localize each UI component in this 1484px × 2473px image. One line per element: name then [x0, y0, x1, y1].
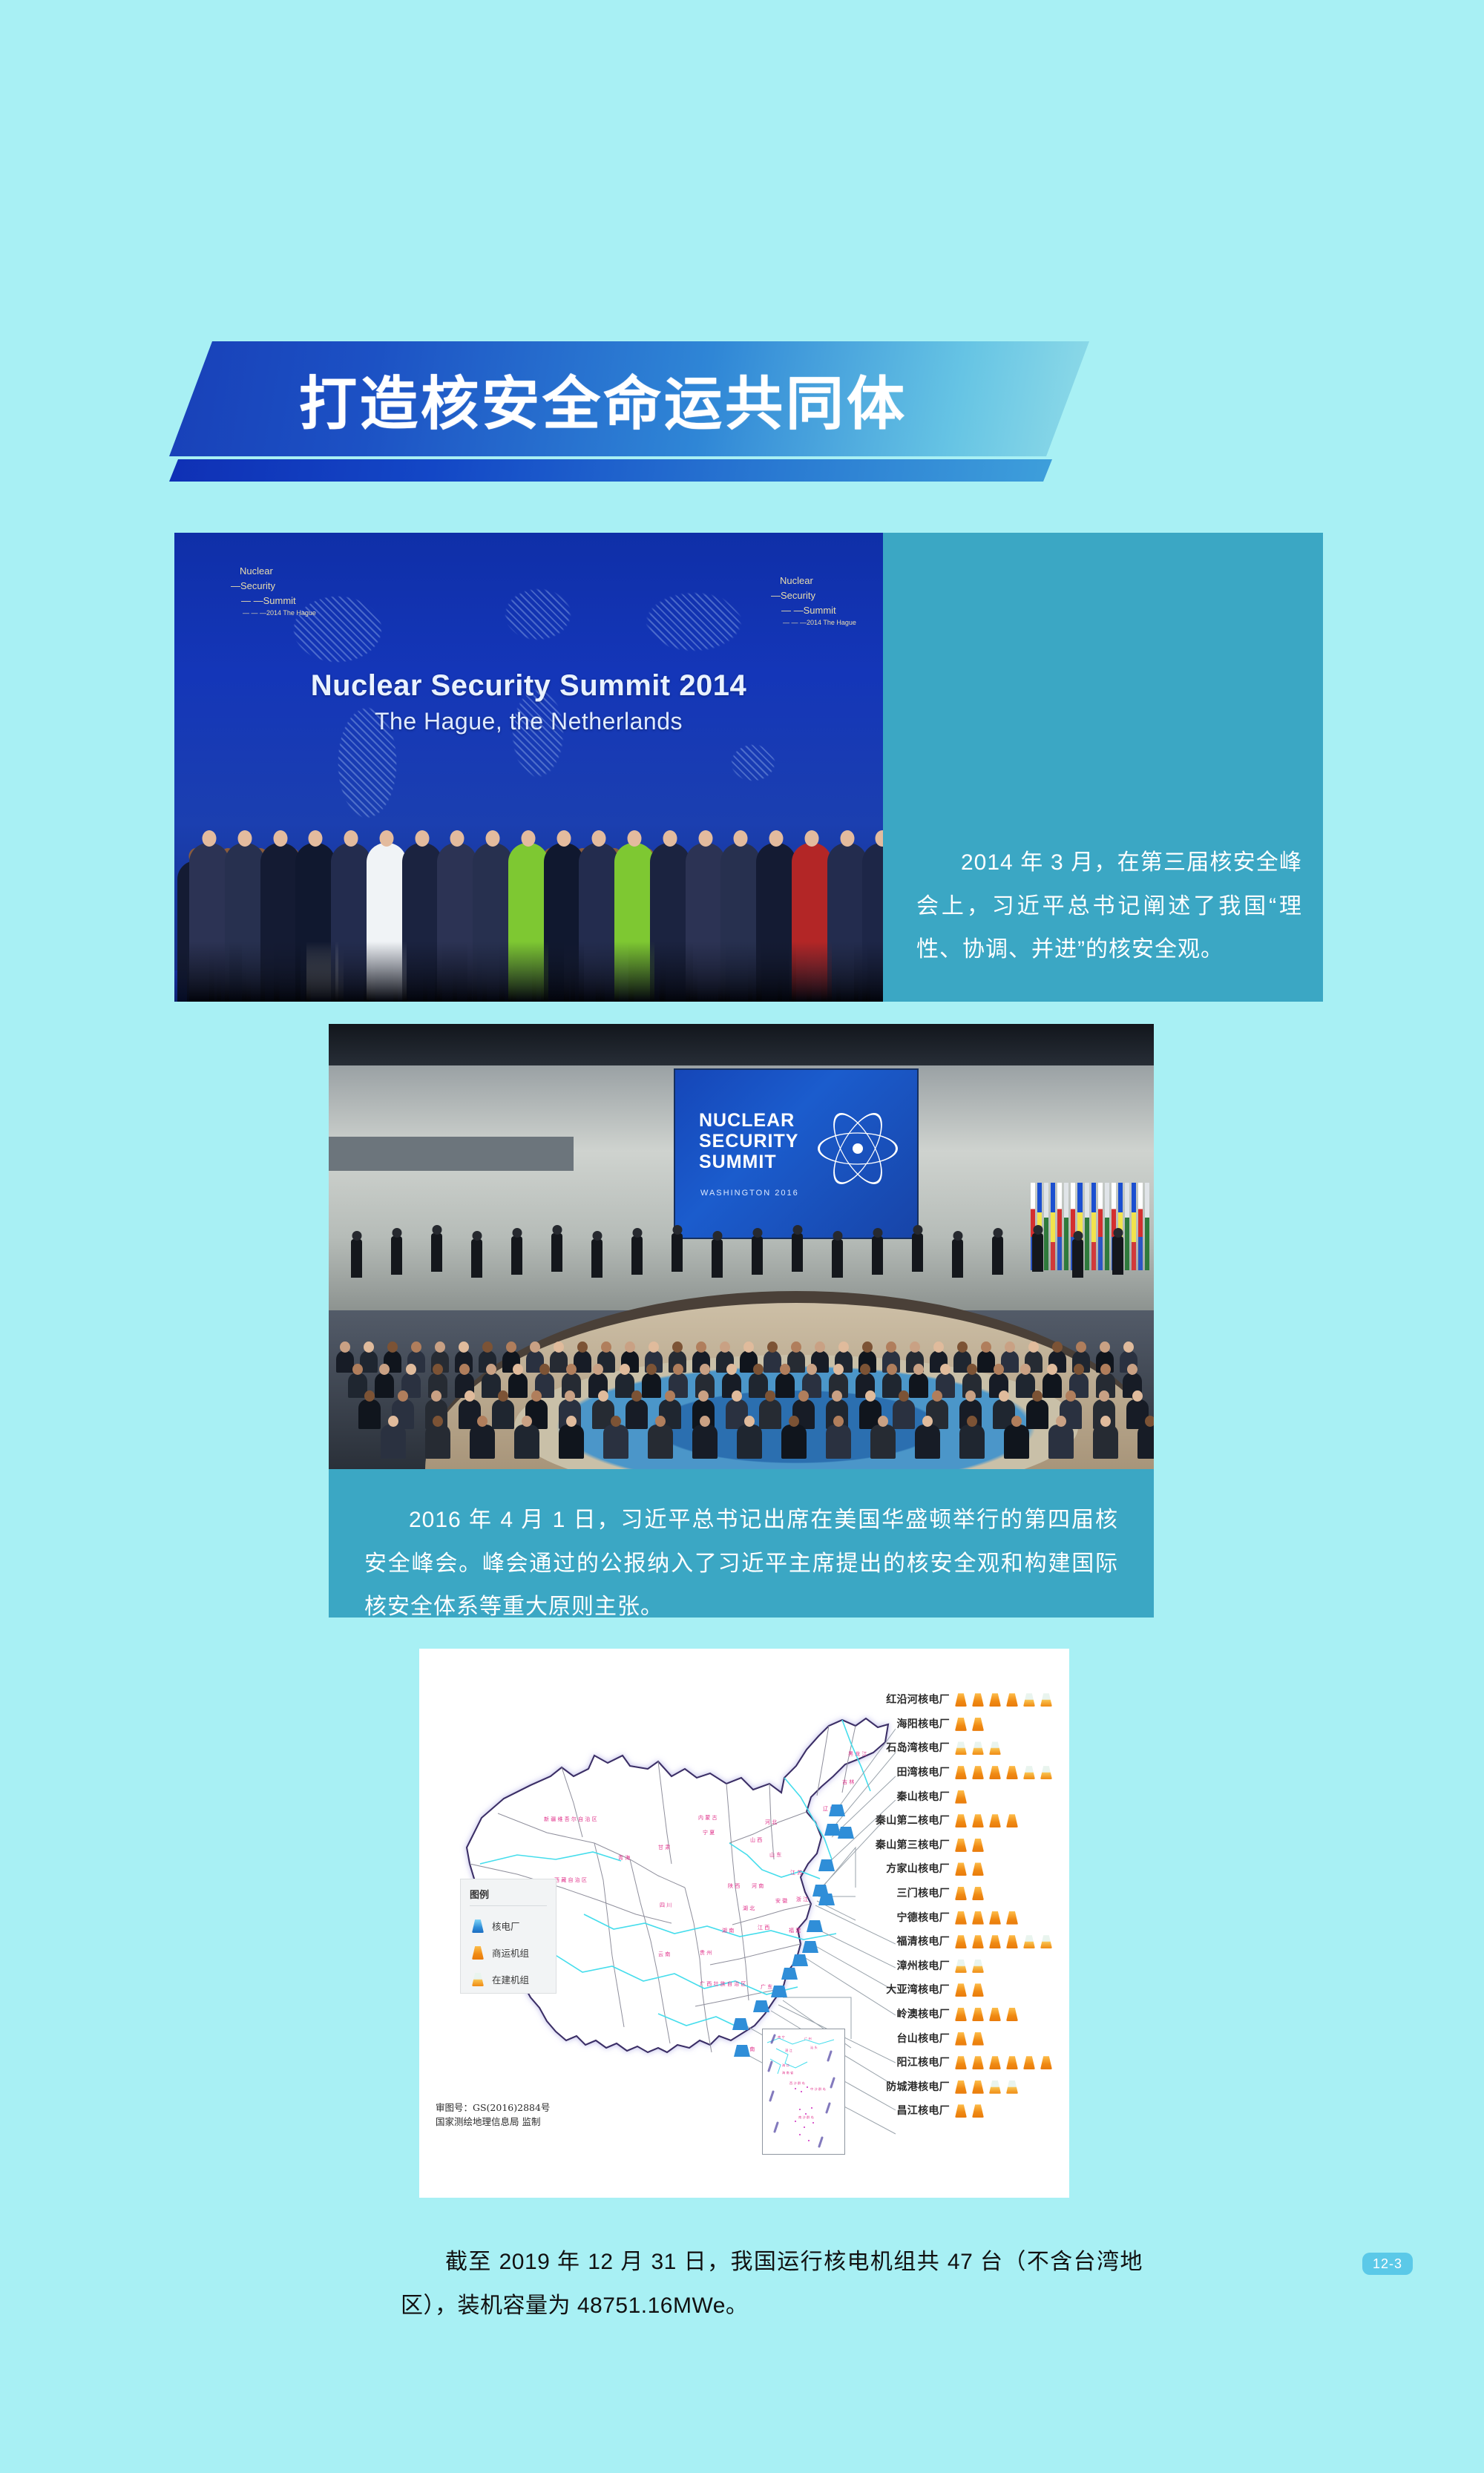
seated-delegate: [470, 1425, 495, 1459]
operating-unit-icon: [970, 1981, 986, 1997]
svg-text:陕 西: 陕 西: [728, 1882, 740, 1889]
delegate-head: [364, 1390, 375, 1402]
delegate-head: [665, 1390, 675, 1402]
seated-delegate: [1137, 1425, 1154, 1459]
plant-row: 漳州核电厂: [853, 1954, 1068, 1978]
plant-units: [953, 2006, 1020, 2022]
svg-text:河 北: 河 北: [765, 1819, 777, 1825]
nss-logo-right: Nuclear —Security — —Summit — — —2014 Th…: [761, 574, 856, 628]
press-photographer: [1072, 1239, 1083, 1278]
seated-delegate: [826, 1425, 851, 1459]
delegate-figure: [473, 843, 513, 1002]
svg-text:安 徽: 安 徽: [775, 1897, 787, 1904]
seated-delegate: [692, 1425, 718, 1459]
operating-unit-icon: [970, 1836, 986, 1853]
legend-label: 核电厂: [492, 1919, 520, 1933]
plant-units: [953, 1836, 986, 1853]
caption-statistics: 截至 2019 年 12 月 31 日，我国运行核电机组共 47 台（不含台湾地…: [401, 2241, 1143, 2328]
operating-unit-icon: [1004, 1812, 1020, 1828]
delegate-head: [565, 1390, 575, 1402]
press-photographer: [471, 1239, 482, 1278]
seated-delegate: [775, 1373, 795, 1398]
delegate-figure: [862, 843, 883, 1002]
plant-row: 红沿河核电厂: [853, 1687, 1068, 1712]
plant-row: 海阳核电厂: [853, 1712, 1068, 1736]
operating-unit-icon: [953, 1764, 969, 1780]
seated-delegate: [642, 1373, 661, 1398]
seated-delegate: [1093, 1425, 1118, 1459]
delegate-head: [431, 1390, 441, 1402]
plant-units: [953, 1739, 1003, 1756]
press-photographer: [952, 1239, 963, 1278]
map-legend: 图例 核电厂 商运机组 在建机组: [460, 1879, 556, 1994]
delegate-head: [832, 1390, 842, 1402]
flag: [1044, 1183, 1048, 1270]
plant-label-list: 红沿河核电厂海阳核电厂石岛湾核电厂田湾核电厂秦山核电厂秦山第二核电厂秦山第三核电…: [853, 1687, 1068, 2123]
flag: [1085, 1183, 1089, 1270]
legend-item-plant: 核电厂: [470, 1912, 547, 1939]
delegate-head: [655, 1416, 666, 1427]
legend-title: 图例: [470, 1887, 547, 1906]
delegate-head: [203, 830, 217, 847]
delegate-head: [379, 830, 393, 847]
delegate-head: [364, 1341, 374, 1353]
operating-unit-icon: [953, 1909, 969, 1925]
plant-name: 福清核电厂: [853, 1934, 950, 1948]
operating-unit-icon: [953, 1981, 969, 1997]
seated-delegate: [893, 1399, 915, 1429]
delegate-head: [620, 1364, 630, 1375]
delegate-head: [886, 1341, 896, 1353]
delegate-figure: [544, 843, 584, 1002]
delegate-head: [878, 1416, 888, 1427]
operating-unit-icon: [987, 1933, 1003, 1949]
svg-text:海 口: 海 口: [782, 2063, 789, 2068]
delegate-head: [340, 1341, 350, 1353]
caption-summit-2014: 2014 年 3 月，在第三届核安全峰会上，习近平总书记阐述了我国“理性、协调、…: [916, 841, 1302, 972]
delegate-figure: [827, 843, 867, 1002]
seated-delegate: [764, 1350, 781, 1373]
nss-logo-line-3: — —Summit: [220, 594, 316, 608]
plant-units: [953, 1860, 986, 1876]
operating-unit-icon: [970, 1885, 986, 1901]
delegate-head: [539, 1364, 550, 1375]
flag: [1091, 1183, 1096, 1270]
operating-unit-icon: [970, 2054, 986, 2070]
plant-units: [953, 2102, 986, 2118]
atom-nucleus: [853, 1143, 863, 1154]
delegate-head: [698, 830, 712, 847]
press-photographer: [431, 1233, 442, 1272]
plant-units: [953, 1715, 986, 1732]
operating-unit-icon: [953, 2006, 969, 2022]
delegate-head: [411, 1341, 421, 1353]
press-photographer: [672, 1233, 683, 1272]
press-photographer: [752, 1236, 763, 1275]
delegate-head: [673, 1364, 683, 1375]
delegate-head: [1100, 1341, 1110, 1353]
plant-units: [953, 1909, 1020, 1925]
operating-unit-icon: [1004, 1933, 1020, 1949]
delegate-figure: [756, 843, 796, 1002]
legend-label: 在建机组: [492, 1972, 529, 1986]
delegate-head: [415, 830, 429, 847]
operating-unit-icon: [1004, 1909, 1020, 1925]
delegate-head: [566, 1416, 577, 1427]
section-summit-2014: Nuclear —Security — —Summit — — —2014 Th…: [174, 533, 1323, 1002]
caption-panel-summit-2016: 2016 年 4 月 1 日，习近平总书记出席在美国华盛顿举行的第四届核安全峰会…: [329, 1469, 1154, 1618]
press-photographer: [872, 1236, 883, 1275]
nss-logo-line-4: — — —2014 The Hague: [761, 618, 856, 628]
svg-text:内 蒙 古: 内 蒙 古: [698, 1814, 717, 1821]
seated-delegate: [358, 1399, 381, 1429]
nss-logo-line-1: Nuclear: [761, 574, 856, 588]
screen-title-line-3: SUMMIT: [699, 1152, 798, 1172]
delegate-figure: [650, 843, 690, 1002]
operating-unit-icon: [987, 2006, 1003, 2022]
caption-summit-2016: 2016 年 4 月 1 日，习近平总书记出席在美国华盛顿举行的第四届核安全峰会…: [364, 1499, 1118, 1629]
operating-unit-icon: [953, 1691, 969, 1707]
delegate-head: [521, 830, 535, 847]
delegate-head: [628, 830, 642, 847]
delegate-head: [887, 1364, 897, 1375]
svg-text:海 南 省: 海 南 省: [782, 2070, 793, 2075]
delegates-group-photo: [174, 749, 883, 1002]
legend-item-building: 在建机组: [470, 1965, 547, 1992]
delegate-head: [1099, 1390, 1109, 1402]
press-photographer: [591, 1239, 603, 1278]
plant-units: [953, 1788, 969, 1804]
operating-unit-icon: [1004, 2006, 1020, 2022]
plant-row: 岭澳核电厂: [853, 2002, 1068, 2026]
delegate-head: [592, 830, 606, 847]
delegate-figure: [437, 843, 477, 1002]
svg-text:青 海: 青 海: [618, 1854, 630, 1861]
page-title-banner: 打造核安全命运共同体: [169, 341, 1089, 490]
map-approval-number: 审图号：GS(2016)2884号: [436, 2101, 680, 2115]
seated-delegate: [959, 1425, 985, 1459]
building-unit-icon: [970, 1739, 986, 1756]
delegate-head: [672, 1341, 683, 1353]
delegate-head: [769, 830, 784, 847]
delegate-head: [611, 1416, 621, 1427]
svg-text:云 南: 云 南: [658, 1951, 670, 1957]
delegate-head: [957, 1341, 968, 1353]
svg-text:广 西 壮 族 自 治 区: 广 西 壮 族 自 治 区: [700, 1980, 746, 1987]
delegate-head: [1005, 1341, 1015, 1353]
delegate-figure: [614, 843, 654, 1002]
delegate-head: [482, 1341, 493, 1353]
delegate-head: [815, 1341, 825, 1353]
plant-units: [953, 2078, 1020, 2095]
delegate-head: [1032, 1390, 1043, 1402]
plant-units: [953, 1885, 986, 1901]
delegate-head: [1127, 1364, 1137, 1375]
delegate-head: [743, 1341, 754, 1353]
plant-row: 石岛湾核电厂: [853, 1735, 1068, 1760]
operating-unit-icon: [970, 1691, 986, 1707]
delegate-head: [506, 1341, 516, 1353]
delegate-head: [700, 1364, 710, 1375]
plant-units: [953, 2030, 986, 2046]
delegate-head: [865, 1390, 876, 1402]
delegate-head: [531, 1390, 542, 1402]
delegate-head: [593, 1364, 603, 1375]
svg-text:南 沙 群 岛: 南 沙 群 岛: [798, 2115, 814, 2120]
delegate-head: [780, 1364, 790, 1375]
plant-row: 大亚湾核电厂: [853, 1977, 1068, 2002]
delegate-head: [696, 1341, 706, 1353]
delegate-head: [1020, 1364, 1031, 1375]
building-unit-icon: [987, 2078, 1003, 2095]
delegate-figure: [720, 843, 761, 1002]
plant-row: 福清核电厂: [853, 1929, 1068, 1954]
building-unit-icon: [1038, 1933, 1054, 1949]
delegate-head: [1028, 1341, 1039, 1353]
delegate-head: [433, 1416, 443, 1427]
operating-unit-icon: [953, 1715, 969, 1732]
delegate-head: [530, 1341, 540, 1353]
delegate-head: [700, 1416, 710, 1427]
delegate-head: [1123, 1341, 1134, 1353]
delegate-head: [459, 1341, 469, 1353]
legend-item-operating: 商运机组: [470, 1939, 547, 1965]
delegate-head: [498, 1390, 508, 1402]
delegate-head: [477, 1416, 487, 1427]
delegate-head: [486, 830, 500, 847]
delegate-head: [1132, 1390, 1143, 1402]
delegate-figure: [792, 843, 832, 1002]
delegate-head: [237, 830, 252, 847]
delegate-head: [601, 1341, 611, 1353]
svg-text:山 西: 山 西: [750, 1836, 762, 1843]
nss-logo-line-2: —Security: [220, 579, 316, 594]
plant-name: 方家山核电厂: [853, 1861, 950, 1876]
delegate-figure: [260, 843, 301, 1002]
summit-subline: The Hague, the Netherlands: [174, 708, 883, 735]
delegate-head: [862, 1341, 873, 1353]
delegate-head: [435, 1341, 445, 1353]
delegate-head: [387, 1341, 398, 1353]
delegate-head: [913, 1364, 924, 1375]
plant-name: 秦山核电厂: [853, 1789, 950, 1804]
screen-subtitle: WASHINGTON 2016: [700, 1189, 799, 1198]
south-china-sea-inset: 南 宁广 州 湛 江汕 头 海 口海 南 省 西 沙 群 岛中 沙 群 岛 南 …: [762, 2029, 845, 2155]
operating-unit-icon: [970, 2006, 986, 2022]
delegate-head: [840, 830, 854, 847]
plant-name: 三门核电厂: [853, 1885, 950, 1900]
press-photographer: [511, 1236, 522, 1275]
press-photographer: [712, 1239, 723, 1278]
operating-unit-icon: [970, 1860, 986, 1876]
operating-unit-icon: [987, 2054, 1003, 2070]
svg-text:中 沙 群 岛: 中 沙 群 岛: [810, 2086, 826, 2092]
map-footnote: 审图号：GS(2016)2884号 国家测绘地理信息局 监制: [436, 2101, 680, 2129]
delegate-figure: [225, 843, 265, 1002]
plant-name: 防城港核电厂: [853, 2079, 950, 2094]
delegate-head: [631, 1390, 642, 1402]
flag: [1098, 1183, 1103, 1270]
press-photographer: [912, 1233, 923, 1272]
operating-unit-icon: [953, 2054, 969, 2070]
plant-units: [953, 1981, 986, 1997]
seated-delegate: [977, 1350, 995, 1373]
operating-unit-icon: [970, 1933, 986, 1949]
delegate-head: [933, 1341, 944, 1353]
map-issuing-authority: 国家测绘地理信息局 监制: [436, 2115, 680, 2129]
seated-delegate: [870, 1425, 896, 1459]
flag: [1051, 1183, 1055, 1270]
delegate-head: [556, 830, 571, 847]
delegate-head: [352, 1364, 363, 1375]
plant-row: 秦山第二核电厂: [853, 1808, 1068, 1833]
svg-text:广 州: 广 州: [804, 2036, 812, 2041]
seated-delegate: [648, 1425, 673, 1459]
building-unit-icon: [1038, 1764, 1054, 1780]
delegate-figure: [402, 843, 442, 1002]
plant-units: [953, 1933, 1054, 1949]
seated-delegate: [759, 1399, 781, 1429]
delegate-head: [464, 1390, 475, 1402]
building-unit-icon: [470, 1971, 486, 1987]
svg-text:贵 州: 贵 州: [700, 1949, 712, 1956]
delegate-head: [932, 1390, 942, 1402]
delegate-head: [833, 1416, 844, 1427]
flag: [1132, 1183, 1136, 1270]
delegate-head: [967, 1416, 977, 1427]
press-photographer: [351, 1239, 362, 1278]
delegate-head: [899, 1390, 909, 1402]
flag: [1105, 1183, 1109, 1270]
delegate-head: [459, 1364, 470, 1375]
delegate-head: [720, 1341, 730, 1353]
delegate-head: [860, 1364, 870, 1375]
operating-unit-icon: [1021, 2054, 1037, 2070]
plant-row: 昌江核电厂: [853, 2098, 1068, 2123]
svg-text:山 东: 山 东: [769, 1851, 781, 1858]
delegate-head: [765, 1390, 775, 1402]
delegate-head: [791, 1341, 801, 1353]
plant-name: 海阳核电厂: [853, 1716, 950, 1731]
building-unit-icon: [1004, 2078, 1020, 2095]
delegate-head: [789, 1416, 799, 1427]
seated-delegate: [1043, 1373, 1062, 1398]
delegate-head: [994, 1364, 1004, 1375]
delegate-head: [646, 1364, 657, 1375]
plant-name: 宁德核电厂: [853, 1910, 950, 1925]
press-photographer: [551, 1233, 562, 1272]
delegate-head: [910, 1341, 920, 1353]
press-photographer: [792, 1233, 803, 1272]
svg-text:福 建: 福 建: [789, 1927, 801, 1934]
press-photographer: [391, 1236, 402, 1275]
press-photographer: [1032, 1233, 1043, 1272]
seated-delegate: [781, 1425, 807, 1459]
seated-delegate: [559, 1425, 584, 1459]
delegate-head: [1100, 1416, 1111, 1427]
delegate-head: [406, 1364, 416, 1375]
seated-delegate: [603, 1425, 628, 1459]
delegate-head: [625, 1341, 635, 1353]
operating-unit-icon: [970, 1715, 986, 1732]
delegate-head: [876, 830, 883, 847]
plant-name: 昌江核电厂: [853, 2103, 950, 2118]
delegate-head: [577, 1341, 588, 1353]
plant-row: 秦山核电厂: [853, 1784, 1068, 1808]
svg-text:新 疆 维 吾 尔 自 治 区: 新 疆 维 吾 尔 自 治 区: [544, 1816, 597, 1822]
svg-text:吉 林: 吉 林: [842, 1779, 854, 1785]
operating-unit-icon: [470, 1944, 486, 1960]
delegate-head: [1074, 1364, 1084, 1375]
delegate-figure: [331, 843, 371, 1002]
seated-delegate: [492, 1399, 514, 1429]
svg-text:江 苏: 江 苏: [790, 1869, 802, 1876]
delegate-figure: [508, 843, 548, 1002]
operating-unit-icon: [970, 1909, 986, 1925]
seated-delegate: [381, 1425, 406, 1459]
delegate-head: [398, 1390, 408, 1402]
delegate-head: [744, 1416, 755, 1427]
plant-row: 阳江核电厂: [853, 2050, 1068, 2075]
delegate-figure: [579, 843, 619, 1002]
delegate-head: [522, 1416, 532, 1427]
operating-unit-icon: [953, 1836, 969, 1853]
delegate-head: [1100, 1364, 1111, 1375]
press-photographer: [1112, 1236, 1123, 1275]
delegate-head: [450, 830, 464, 847]
press-photographer: [832, 1239, 843, 1278]
plant-name: 阳江核电厂: [853, 2055, 950, 2069]
seated-delegate: [375, 1373, 394, 1398]
delegate-head: [1011, 1416, 1022, 1427]
plant-name: 石岛湾核电厂: [853, 1740, 950, 1755]
screen-title: NUCLEAR SECURITY SUMMIT: [699, 1110, 798, 1172]
plant-units: [953, 1957, 986, 1974]
svg-text:浙 江: 浙 江: [796, 1896, 808, 1902]
svg-text:甘 肃: 甘 肃: [658, 1844, 670, 1850]
plant-row: 秦山第三核电厂: [853, 1833, 1068, 1857]
summit-2016-screen: NUCLEAR SECURITY SUMMIT WASHINGTON 2016: [674, 1068, 919, 1239]
building-unit-icon: [953, 1739, 969, 1756]
delegate-figure: [367, 843, 407, 1002]
delegate-head: [726, 1364, 737, 1375]
operating-unit-icon: [970, 1764, 986, 1780]
delegate-head: [965, 1390, 976, 1402]
delegate-head: [566, 1364, 577, 1375]
press-photographer: [631, 1236, 643, 1275]
plant-row: 三门核电厂: [853, 1881, 1068, 1905]
plant-units: [953, 1764, 1054, 1780]
delegate-head: [981, 1341, 991, 1353]
banner-accent-bar: [169, 459, 1052, 482]
plant-name: 秦山第二核电厂: [853, 1813, 950, 1827]
delegate-head: [1047, 1364, 1057, 1375]
banner-shape: 打造核安全命运共同体: [169, 341, 1089, 456]
page-title: 打造核安全命运共同体: [299, 358, 907, 441]
plant-units: [953, 1812, 1020, 1828]
delegate-head: [967, 1364, 977, 1375]
svg-text:湖 南: 湖 南: [722, 1927, 734, 1934]
operating-unit-icon: [953, 1933, 969, 1949]
operating-unit-icon: [953, 1812, 969, 1828]
seated-delegate: [1026, 1399, 1048, 1429]
svg-text:汕 头: 汕 头: [810, 2045, 818, 2050]
flag: [1064, 1183, 1068, 1270]
building-unit-icon: [987, 1739, 1003, 1756]
operating-unit-icon: [1004, 1691, 1020, 1707]
nss-logo-line-2: —Security: [761, 588, 856, 603]
press-photographer: [992, 1236, 1003, 1275]
